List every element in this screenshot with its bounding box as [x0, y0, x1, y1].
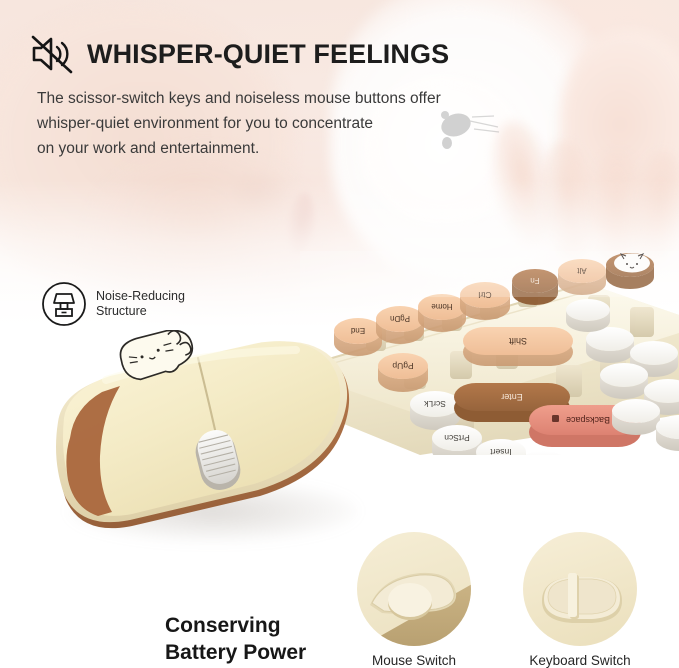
- noise-reducing-callout: Noise-Reducing Structure: [41, 281, 185, 327]
- mouse-switch-callout: Mouse Switch: [340, 531, 488, 668]
- headline-body-copy: The scissor-switch keys and noiseless mo…: [37, 86, 547, 161]
- svg-text:Insert: Insert: [490, 447, 512, 455]
- keyboard-switch-callout: Keyboard Switch: [506, 531, 654, 668]
- noise-label-line-1: Noise-Reducing: [96, 289, 185, 304]
- key-switch-structure-icon: [41, 281, 87, 327]
- svg-text:PrtScn: PrtScn: [444, 433, 470, 443]
- product-feature-banner: WHISPER-QUIET FEELINGS The scissor-switc…: [0, 0, 679, 668]
- body-line-1: The scissor-switch keys and noiseless mo…: [37, 86, 547, 111]
- svg-text:Shift: Shift: [508, 336, 527, 346]
- battery-callout: Conserving Battery Power: [165, 612, 306, 666]
- battery-line-2: Battery Power: [165, 639, 306, 666]
- svg-text:PgDn: PgDn: [390, 314, 410, 323]
- svg-text:Home: Home: [431, 302, 453, 311]
- keycap-PgUp: PgUp: [378, 353, 428, 392]
- mouse-switch-closeup: [340, 531, 488, 651]
- keycap-PrtScn: PrtScn: [432, 425, 482, 455]
- keyboard-switch-closeup: [506, 531, 654, 651]
- mouse-illustration: [46, 330, 376, 545]
- keycap-PgDn: PgDn: [376, 306, 424, 344]
- svg-text:PgUp: PgUp: [392, 361, 414, 371]
- wireless-mouse: [46, 330, 376, 545]
- keycap-ScrLk: ScrLk: [410, 391, 460, 430]
- keycap-Shift: Shift: [463, 327, 573, 366]
- mouse-switch-caption: Mouse Switch: [340, 653, 488, 668]
- keycap-Home: Home: [418, 294, 466, 332]
- headline-row: WHISPER-QUIET FEELINGS: [30, 34, 449, 74]
- body-line-2: whisper-quiet environment for you to con…: [37, 111, 547, 136]
- body-line-3: on your work and entertainment.: [37, 136, 547, 161]
- noise-reducing-label: Noise-Reducing Structure: [96, 289, 185, 319]
- svg-text:Backspace: Backspace: [566, 415, 610, 425]
- battery-line-1: Conserving: [165, 612, 306, 639]
- page-title: WHISPER-QUIET FEELINGS: [87, 39, 449, 70]
- noise-label-line-2: Structure: [96, 304, 185, 319]
- speaker-mute-icon: [30, 34, 74, 74]
- svg-text:ScrLk: ScrLk: [423, 399, 445, 409]
- keyboard-switch-caption: Keyboard Switch: [506, 653, 654, 668]
- svg-text:Enter: Enter: [501, 392, 523, 402]
